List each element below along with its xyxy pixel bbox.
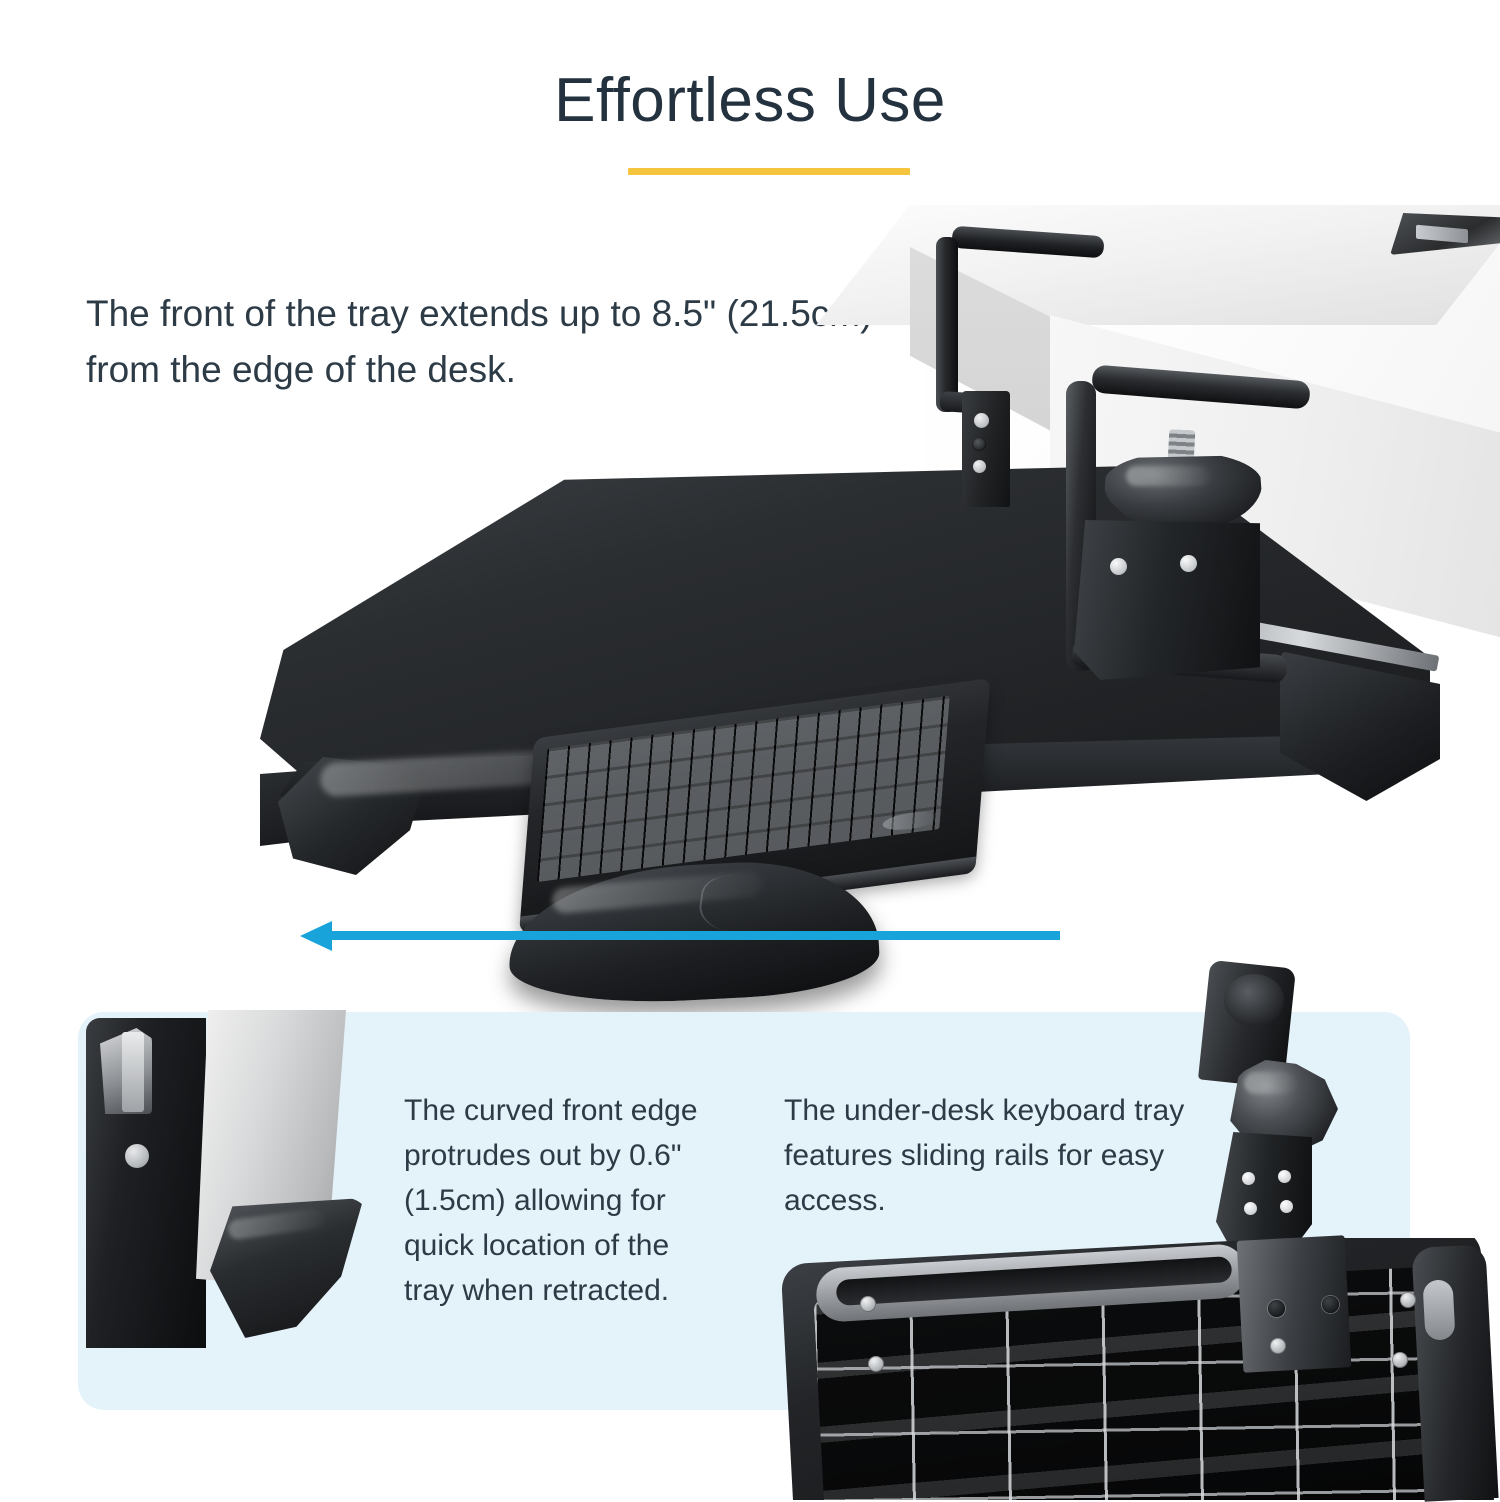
c-clamp-rear-top-arm xyxy=(951,226,1104,259)
knob-closeup-inner-disc xyxy=(1224,974,1284,1026)
caption-curved-edge: The curved front edge protrudes out by 0… xyxy=(404,1088,704,1313)
clamp-support-bracket xyxy=(1074,520,1260,680)
c-clamp-rear-vertical-arm xyxy=(936,237,958,412)
page-title: Effortless Use xyxy=(0,68,1500,133)
rail-screw xyxy=(1400,1292,1416,1308)
clamp-knob-highlight xyxy=(1126,466,1210,486)
bracket-mounting-hole xyxy=(1110,558,1127,575)
tray-underside-right-edge xyxy=(1411,1244,1498,1502)
knob-strap-hole xyxy=(1278,1170,1291,1183)
mounting-plate-screw xyxy=(972,437,986,451)
c-clamp-front-top-arm xyxy=(1091,364,1311,409)
title-underline-rule xyxy=(628,168,910,175)
knob-closeup-knob-highlight xyxy=(1244,1072,1296,1094)
arrow-shaft xyxy=(328,931,1060,940)
bracket-mounting-hole xyxy=(1180,555,1197,572)
extension-travel-arrow xyxy=(300,921,1060,951)
hero-product-photo xyxy=(250,195,1500,915)
edge-closeup-metal-notch-inner xyxy=(122,1032,144,1112)
rail-screw xyxy=(1270,1338,1286,1354)
rails-bracket-screw xyxy=(1322,1296,1339,1313)
curved-edge-closeup-photo xyxy=(78,1000,398,1390)
edge-closeup-rivet xyxy=(125,1144,149,1168)
knob-strap-hole xyxy=(1242,1172,1255,1185)
mounting-plate-hole xyxy=(973,460,986,473)
sliding-rail-right-slot xyxy=(1422,1279,1455,1340)
rail-screw xyxy=(868,1356,884,1372)
rail-screw xyxy=(860,1296,876,1312)
knob-strap-hole xyxy=(1244,1202,1257,1215)
mounting-plate xyxy=(962,391,1010,507)
knob-strap-hole xyxy=(1280,1200,1293,1213)
rail-screw xyxy=(1392,1352,1408,1368)
mounting-plate-hole xyxy=(974,413,989,428)
rails-bracket-screw xyxy=(1268,1300,1285,1317)
caption-sliding-rails: The under-desk keyboard tray features sl… xyxy=(784,1088,1194,1223)
